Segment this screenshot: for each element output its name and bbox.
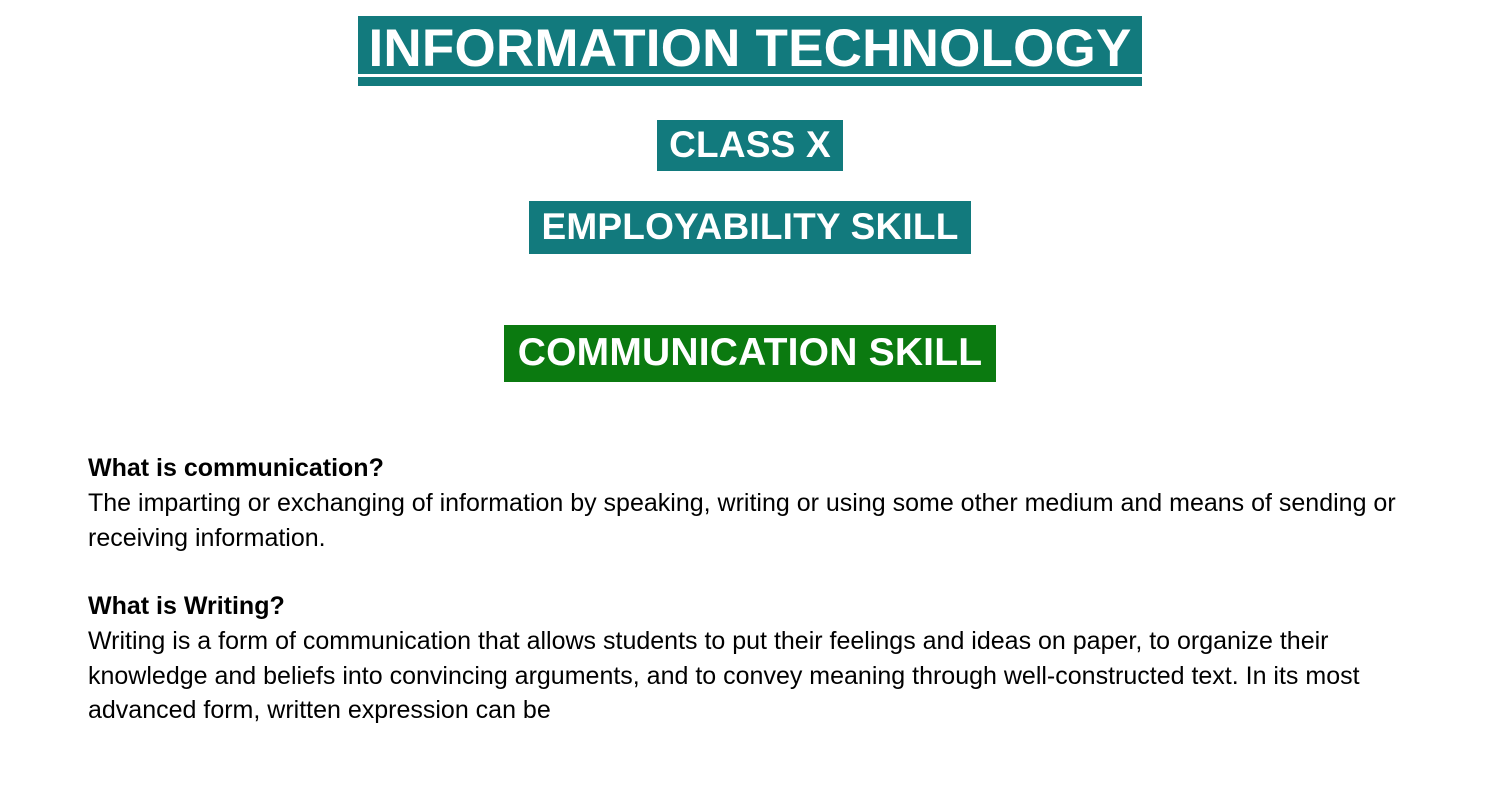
page-title: INFORMATION TECHNOLOGY (358, 16, 1141, 86)
subject-heading-row: EMPLOYABILITY SKILL (0, 201, 1500, 254)
question-heading: What is Writing? (88, 589, 1440, 623)
body-content: What is communication? The imparting or … (0, 451, 1500, 728)
title-heading-row: INFORMATION TECHNOLOGY (0, 16, 1500, 86)
subject-label: EMPLOYABILITY SKILL (529, 201, 970, 254)
answer-paragraph: Writing is a form of communication that … (88, 624, 1403, 728)
question-heading: What is communication? (88, 451, 1440, 485)
qa-block: What is Writing? Writing is a form of co… (88, 589, 1440, 728)
answer-paragraph: The imparting or exchanging of informati… (88, 486, 1403, 555)
qa-block: What is communication? The imparting or … (88, 451, 1440, 555)
document-page: INFORMATION TECHNOLOGY CLASS X EMPLOYABI… (0, 0, 1500, 785)
class-label: CLASS X (657, 120, 843, 171)
topic-label: COMMUNICATION SKILL (504, 325, 997, 382)
class-heading-row: CLASS X (0, 120, 1500, 171)
topic-heading-row: COMMUNICATION SKILL (0, 325, 1500, 382)
